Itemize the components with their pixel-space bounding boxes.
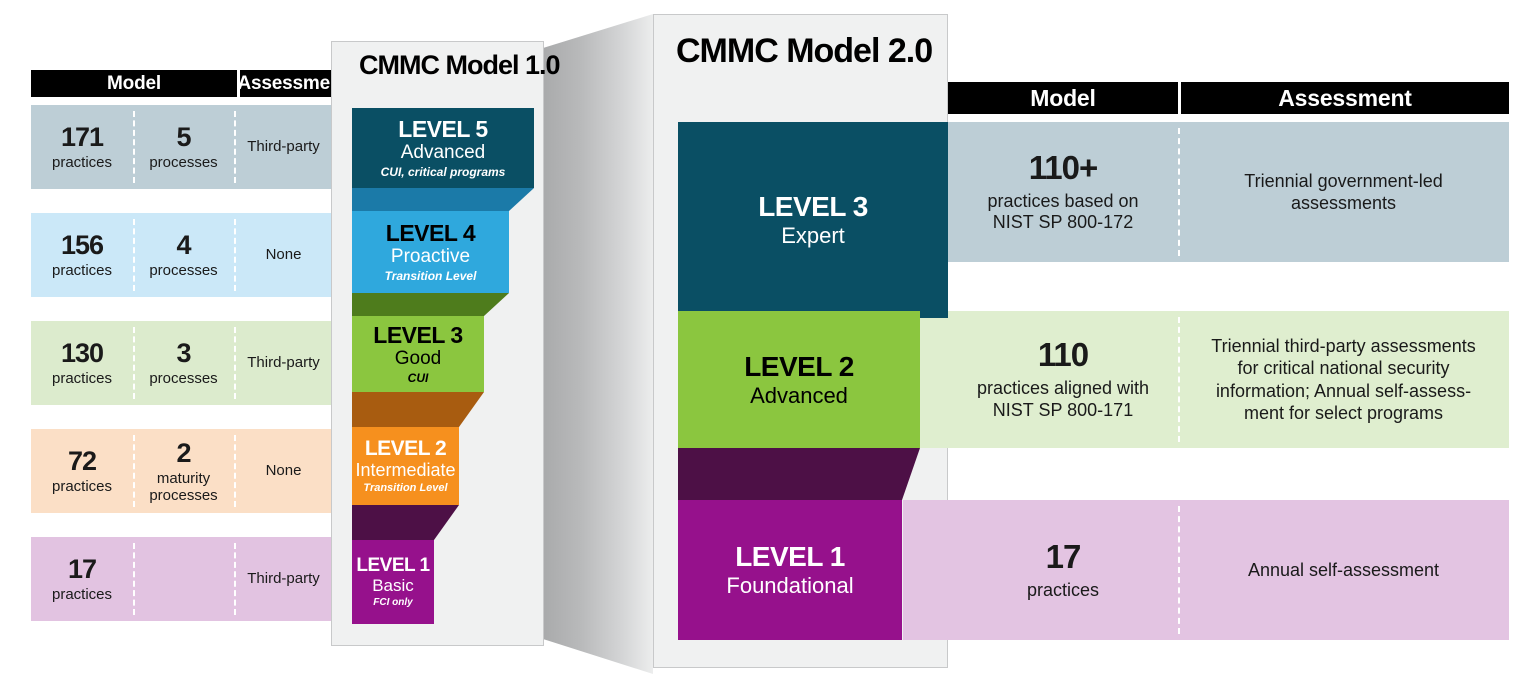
- practices-detail: practices: [1027, 580, 1099, 602]
- right-table-row: 110+practices based onNIST SP 800-172Tri…: [903, 122, 1509, 262]
- practices-count: 17: [1046, 539, 1081, 576]
- level-note: Transition Level: [363, 483, 447, 495]
- left-cell-assessment: Third-party: [234, 537, 333, 621]
- left-cell-assessment: Third-party: [234, 321, 333, 405]
- level-title: Expert: [781, 224, 845, 248]
- column-divider: [133, 543, 135, 615]
- left-header-assessment: Assessment: [240, 70, 345, 97]
- left-cell-assessment: None: [234, 429, 333, 513]
- left-cell-processes: [133, 537, 234, 621]
- practices-count: 17: [68, 554, 96, 584]
- level-name: LEVEL 1: [356, 556, 429, 577]
- level-note: CUI, critical programs: [381, 166, 506, 179]
- cmmc-2-level-block: LEVEL 3Expert: [678, 122, 948, 318]
- left-cell-practices: 72practices: [31, 429, 133, 513]
- left-cell-practices: 171practices: [31, 105, 133, 189]
- practices-count: 171: [61, 122, 103, 152]
- processes-count: 3: [176, 338, 190, 368]
- right-table-row: 17practicesAnnual self-assessment: [903, 500, 1509, 640]
- practices-count: 72: [68, 446, 96, 476]
- left-cell-assessment: Third-party: [234, 105, 333, 189]
- practices-label: practices: [52, 371, 112, 388]
- right-cell-assessment: Triennial government-ledassessments: [1178, 122, 1509, 262]
- level-fold-connector: [352, 293, 509, 316]
- left-table-row: 156practices4processesNone: [31, 213, 333, 297]
- cmmc-1-level-block: LEVEL 4ProactiveTransition Level: [352, 211, 509, 293]
- assessment-text: Triennial government-ledassessments: [1244, 170, 1442, 215]
- cmmc-1-level-block: LEVEL 5AdvancedCUI, critical programs: [352, 108, 534, 188]
- cmmc-1-level-block: LEVEL 3GoodCUI: [352, 316, 484, 392]
- level-name: LEVEL 3: [373, 323, 462, 348]
- practices-count: 110: [1038, 337, 1088, 374]
- processes-count: 4: [176, 230, 190, 260]
- practices-count: 110+: [1029, 150, 1098, 187]
- column-divider: [1178, 128, 1180, 256]
- right-header-model-label: Model: [1030, 85, 1095, 112]
- column-divider: [133, 219, 135, 291]
- level-fold-connector: [352, 505, 459, 540]
- processes-label: processes: [149, 155, 217, 172]
- level-title: Intermediate: [355, 461, 455, 480]
- left-cell-practices: 17practices: [31, 537, 133, 621]
- left-header-model-label: Model: [107, 73, 161, 95]
- column-divider: [1178, 317, 1180, 442]
- cmmc-2-level-block: LEVEL 2Advanced: [678, 311, 920, 448]
- left-table-row: 72practices2maturityprocessesNone: [31, 429, 333, 513]
- assessment-text: Annual self-assessment: [1248, 559, 1439, 582]
- left-cell-practices: 130practices: [31, 321, 133, 405]
- left-cell-processes: 4processes: [133, 213, 234, 297]
- right-cell-model: 17practices: [903, 500, 1178, 640]
- cmmc-1-level-block: LEVEL 2IntermediateTransition Level: [352, 427, 459, 505]
- level-title: Advanced: [750, 384, 848, 408]
- column-divider: [234, 435, 236, 507]
- practices-count: 130: [61, 338, 103, 368]
- left-cell-processes: 2maturityprocesses: [133, 429, 234, 513]
- level-note: Transition Level: [385, 270, 477, 283]
- processes-count: 2: [176, 438, 190, 468]
- assessment-text: Third-party: [247, 355, 320, 372]
- level-fold-connector: [678, 448, 920, 500]
- practices-label: practices: [52, 263, 112, 280]
- level-name: LEVEL 5: [398, 117, 487, 142]
- level-name: LEVEL 1: [735, 542, 845, 572]
- level-title: Foundational: [726, 574, 853, 598]
- cmmc-2-panel-title: CMMC Model 2.0: [676, 34, 932, 68]
- assessment-text: None: [266, 463, 302, 480]
- column-divider: [133, 111, 135, 183]
- practices-label: practices: [52, 479, 112, 496]
- right-cell-assessment: Annual self-assessment: [1178, 500, 1509, 640]
- left-table-row: 17practicesThird-party: [31, 537, 333, 621]
- left-cell-processes: 3processes: [133, 321, 234, 405]
- practices-label: practices: [52, 155, 112, 172]
- level-fold-connector: [352, 392, 484, 427]
- processes-label: processes: [149, 263, 217, 280]
- column-divider: [133, 327, 135, 399]
- practices-count: 156: [61, 230, 103, 260]
- level-title: Advanced: [401, 143, 486, 164]
- level-name: LEVEL 2: [744, 352, 854, 382]
- practices-detail: practices based onNIST SP 800-172: [987, 191, 1138, 234]
- assessment-text: Third-party: [247, 139, 320, 156]
- level-note: FCI only: [373, 598, 412, 609]
- assessment-text: None: [266, 247, 302, 264]
- processes-count: 5: [176, 122, 190, 152]
- level-title: Good: [395, 349, 441, 370]
- cmmc-1-level-block: LEVEL 1BasicFCI only: [352, 540, 434, 624]
- cmmc-1-panel-title: CMMC Model 1.0: [359, 52, 560, 79]
- column-divider: [1178, 506, 1180, 634]
- column-divider: [234, 543, 236, 615]
- processes-label: processes: [149, 371, 217, 388]
- column-divider: [234, 327, 236, 399]
- level-name: LEVEL 2: [365, 438, 446, 461]
- practices-detail: practices aligned withNIST SP 800-171: [977, 378, 1149, 421]
- level-title: Basic: [372, 577, 414, 595]
- left-cell-assessment: None: [234, 213, 333, 297]
- right-cell-model: 110practices aligned withNIST SP 800-171: [903, 311, 1178, 448]
- column-divider: [234, 111, 236, 183]
- level-title: Proactive: [391, 247, 470, 268]
- left-table-row: 130practices3processesThird-party: [31, 321, 333, 405]
- left-cell-practices: 156practices: [31, 213, 133, 297]
- right-header-assessment: Assessment: [1181, 82, 1509, 114]
- level-note: CUI: [408, 372, 429, 385]
- practices-label: practices: [52, 587, 112, 604]
- column-divider: [133, 435, 135, 507]
- assessment-text: Triennial third-party assessmentsfor cri…: [1211, 335, 1475, 425]
- right-table-row: 110practices aligned withNIST SP 800-171…: [903, 311, 1509, 448]
- right-cell-assessment: Triennial third-party assessmentsfor cri…: [1178, 311, 1509, 448]
- level-name: LEVEL 4: [386, 221, 475, 246]
- right-header-model: Model: [948, 82, 1178, 114]
- left-cell-processes: 5processes: [133, 105, 234, 189]
- processes-label: maturityprocesses: [149, 471, 217, 505]
- cmmc-2-level-block: LEVEL 1Foundational: [678, 500, 902, 640]
- level-name: LEVEL 3: [758, 192, 868, 222]
- assessment-text: Third-party: [247, 571, 320, 588]
- level-fold-connector: [352, 188, 534, 211]
- left-header-model: Model: [31, 70, 237, 97]
- column-divider: [234, 219, 236, 291]
- left-table-row: 171practices5processesThird-party: [31, 105, 333, 189]
- right-header-assessment-label: Assessment: [1278, 85, 1412, 112]
